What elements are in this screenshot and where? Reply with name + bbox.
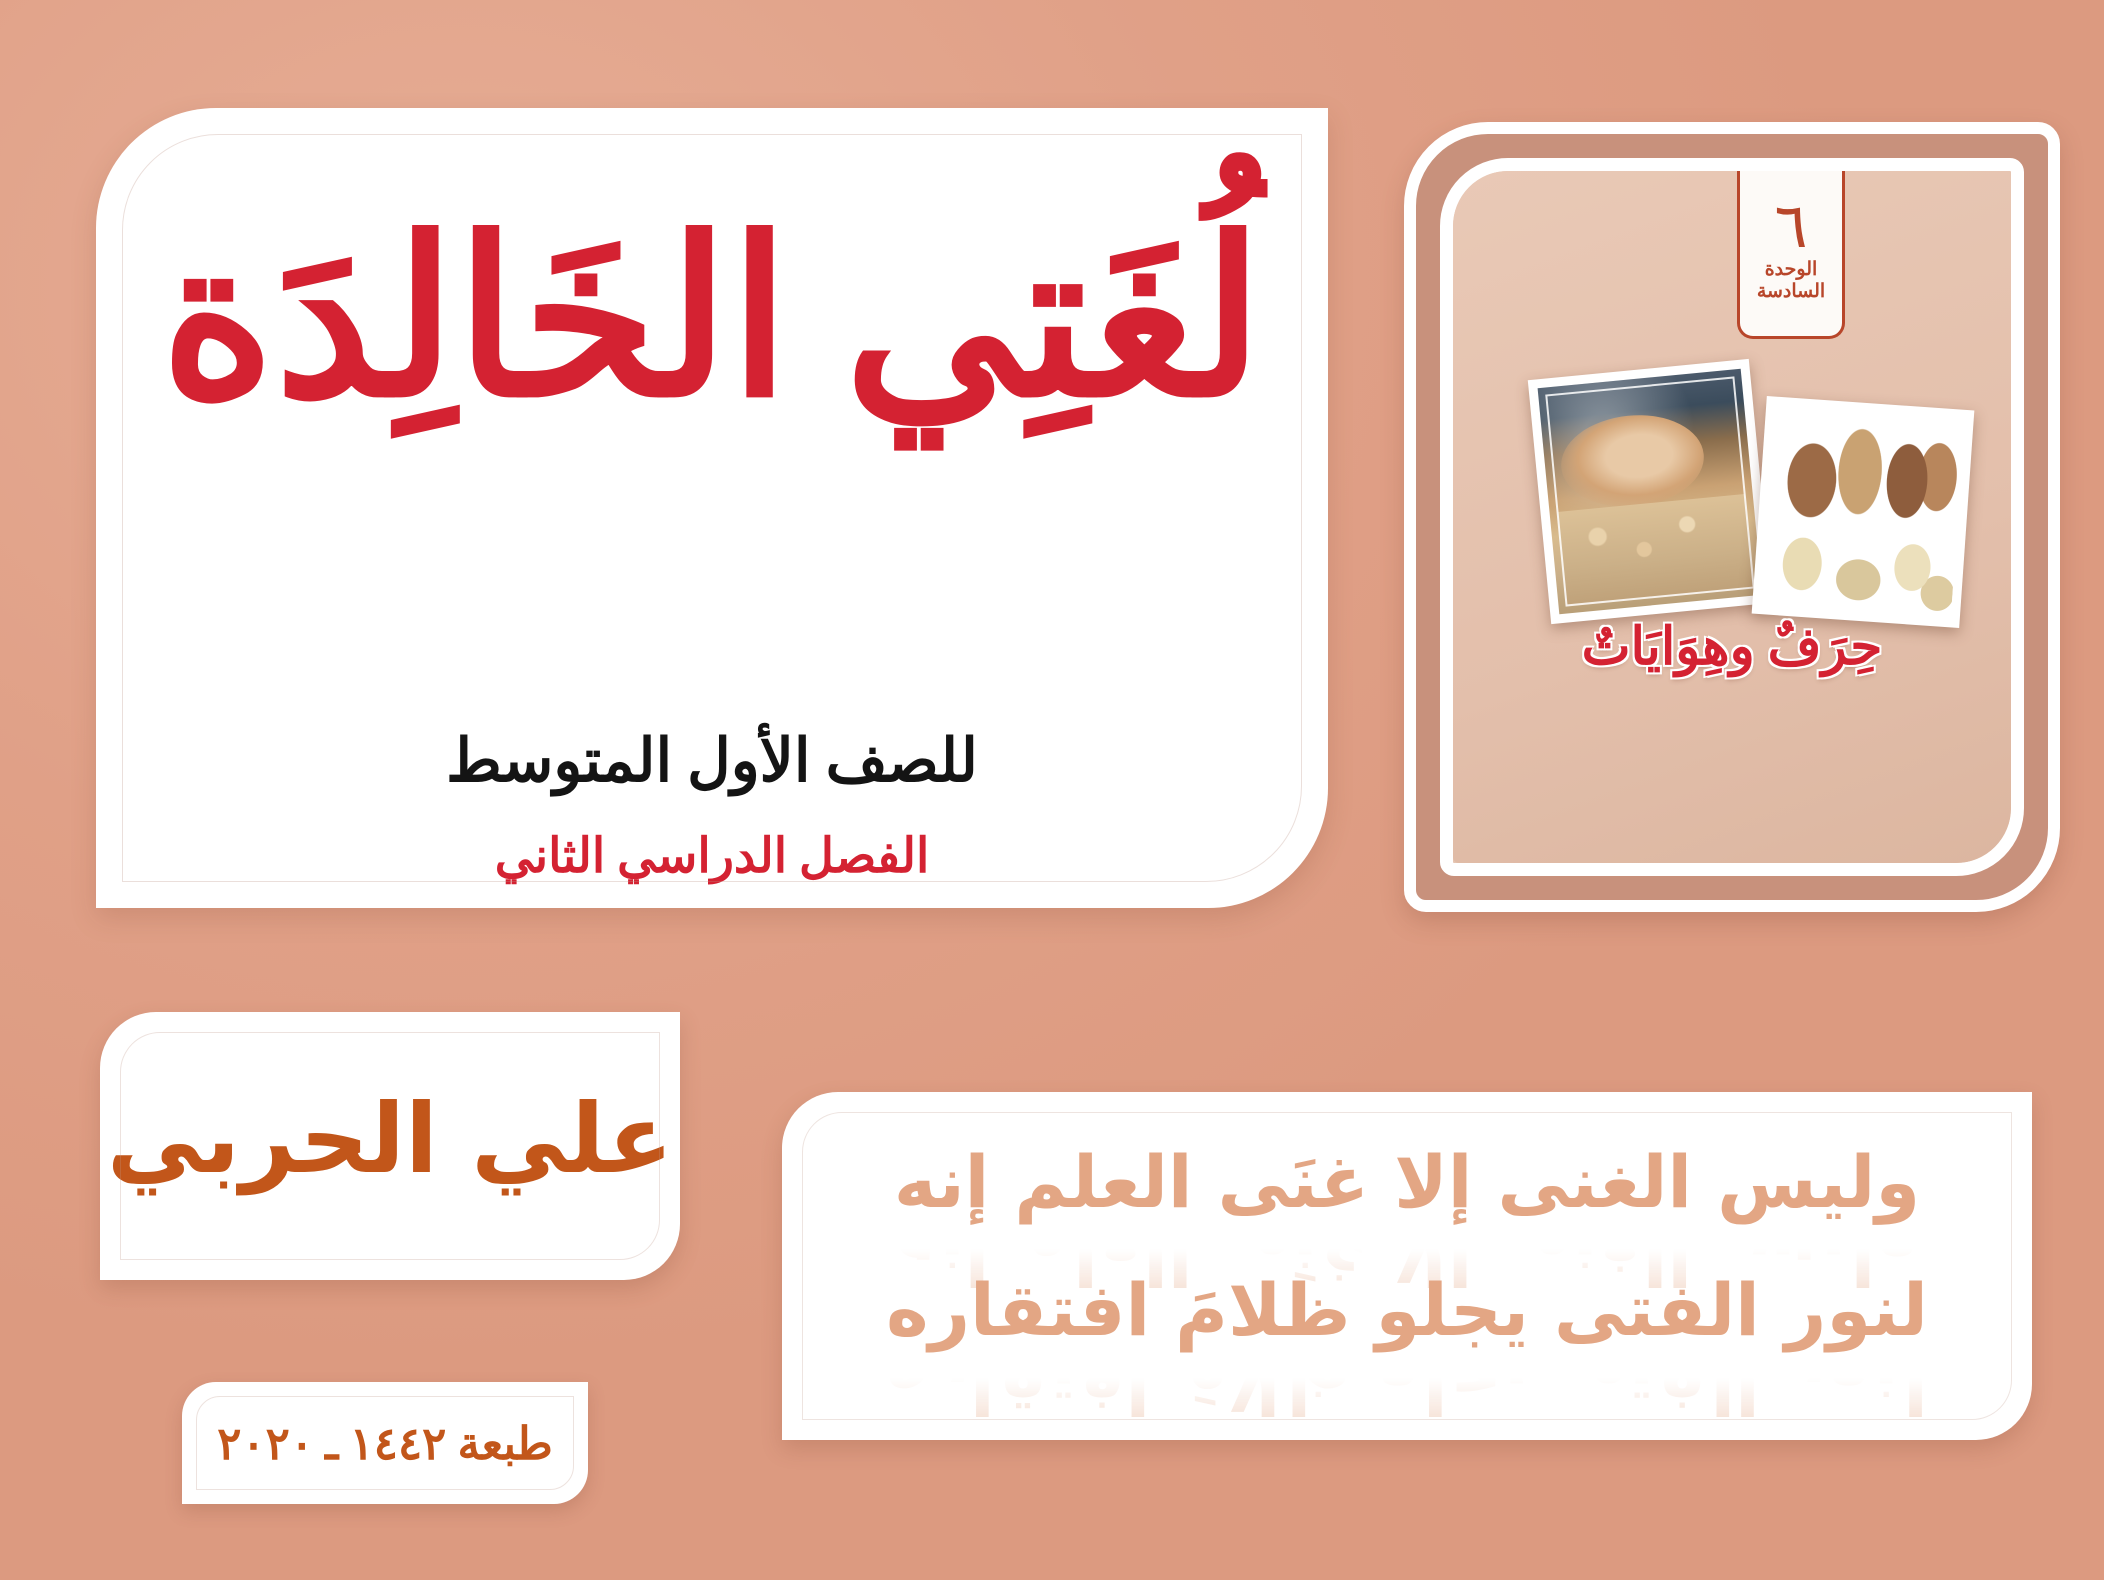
pottery-photo-image	[1761, 406, 1964, 619]
quote-line-1-text: وليس الغنى إلا غنَى العلم إنه	[894, 1140, 1920, 1224]
author-name: علي الحربي	[100, 1012, 680, 1280]
quote-line-2: لنور الفتى يجلو ظلامَ افتقاره لنور الفتى…	[828, 1272, 1986, 1348]
pottery-photo	[1752, 396, 1975, 628]
page-title: لُغَتِي الخَالِدَة	[96, 200, 1328, 444]
edition-text: طبعة ١٤٤٢ ـ ٢٠٢٠	[182, 1382, 588, 1504]
quote-lines: وليس الغنى إلا غنَى العلم إنه وليس الغنى…	[828, 1144, 1986, 1401]
unit-badge: ٦ الوحدة السادسة	[1737, 171, 1845, 339]
book-cover-frame: ٦ الوحدة السادسة حِرَفٌ وهِوَايَاتٌ	[1440, 158, 2024, 876]
grade-subtitle: للصف الأول المتوسط	[96, 726, 1328, 796]
unit-title: حِرَفٌ وهِوَايَاتٌ	[1453, 617, 2011, 677]
author-box: علي الحربي	[100, 1012, 680, 1280]
term-subtitle: الفصل الدراسي الثاني	[96, 828, 1328, 884]
edition-box: طبعة ١٤٤٢ ـ ٢٠٢٠	[182, 1382, 588, 1504]
book-cover-face: ٦ الوحدة السادسة حِرَفٌ وهِوَايَاتٌ	[1453, 171, 2011, 863]
unit-number: ٦	[1774, 198, 1807, 257]
quote-line-2-text: لنور الفتى يجلو ظلامَ افتقاره	[886, 1268, 1928, 1352]
quote-line-1: وليس الغنى إلا غنَى العلم إنه وليس الغنى…	[828, 1144, 1986, 1220]
carpentry-photo	[1528, 359, 1772, 624]
quote-box: وليس الغنى إلا غنَى العلم إنه وليس الغنى…	[782, 1092, 2032, 1440]
title-card: لُغَتِي الخَالِدَة للصف الأول المتوسط ال…	[96, 108, 1328, 908]
carpentry-photo-image	[1538, 369, 1763, 615]
unit-label: الوحدة السادسة	[1740, 259, 1842, 304]
quote-line-2-reflection: لنور الفتى يجلو ظلامَ افتقاره	[828, 1349, 1986, 1425]
book-cover-thumbnail: ٦ الوحدة السادسة حِرَفٌ وهِوَايَاتٌ	[1404, 122, 2060, 912]
